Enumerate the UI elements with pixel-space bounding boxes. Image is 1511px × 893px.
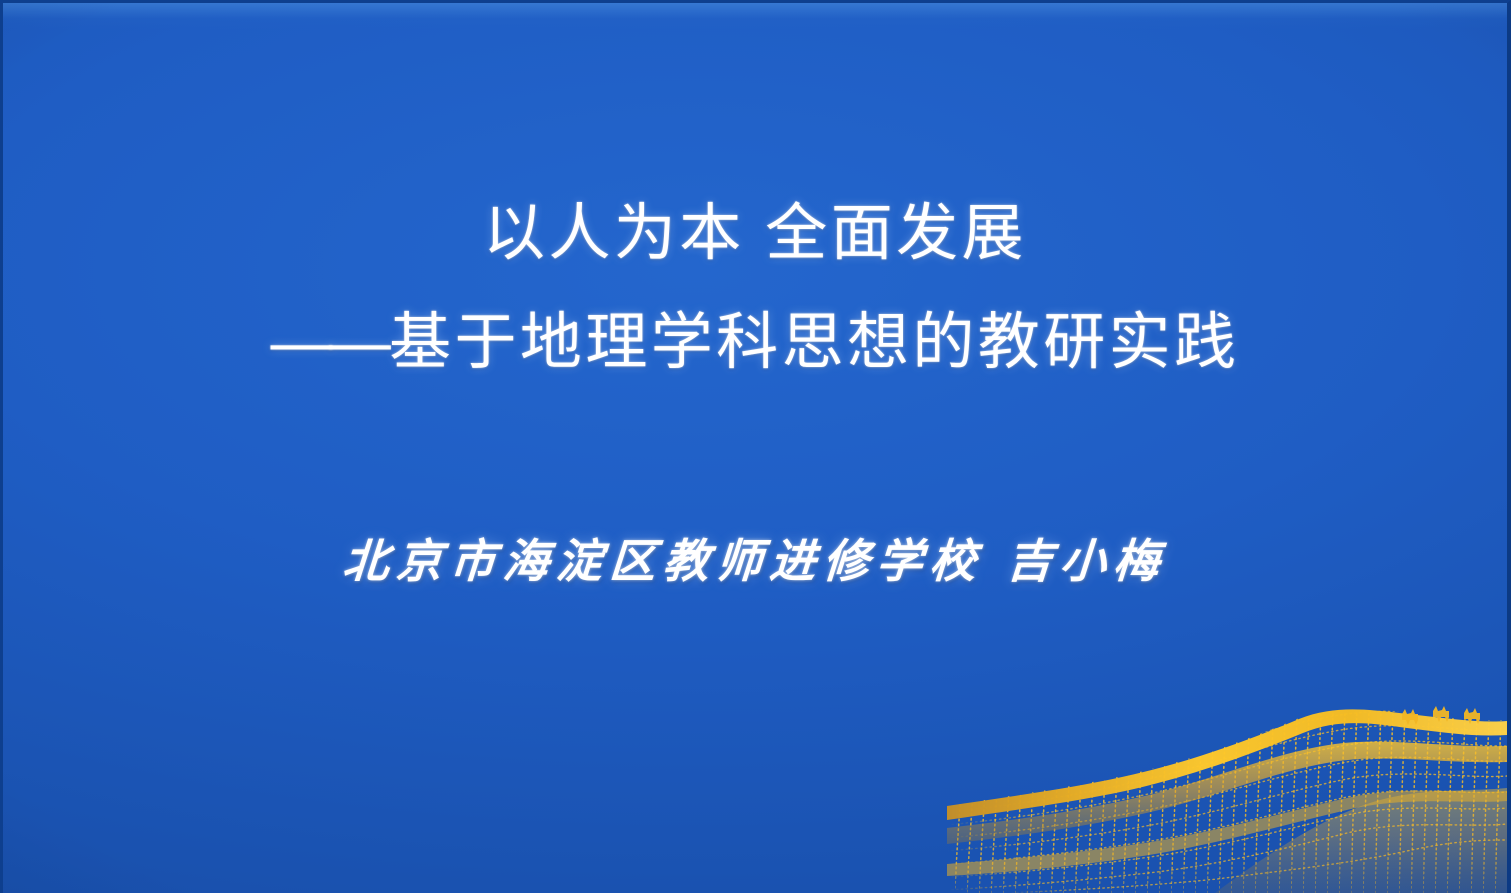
title-block: 以人为本 全面发展 ——基于地理学科思想的教研实践 北京市海淀区教师进修学校 吉… <box>3 201 1507 591</box>
dune-crest-highlights <box>947 709 1507 893</box>
dune-mesh-svg <box>947 688 1507 893</box>
subtitle-em-dash: —— <box>271 308 388 377</box>
presentation-slide: 以人为本 全面发展 ——基于地理学科思想的教研实践 北京市海淀区教师进修学校 吉… <box>0 0 1511 893</box>
presenter-affiliation-and-name: 北京市海淀区教师进修学校 吉小梅 <box>1 525 1510 591</box>
page-subtitle: ——基于地理学科思想的教研实践 <box>3 310 1507 377</box>
gold-wireframe-dune-mesh-icon <box>947 688 1507 893</box>
mesh-grid <box>947 711 1507 893</box>
camel-caravan-icon <box>1402 706 1480 725</box>
subtitle-text: 基于地理学科思想的教研实践 <box>389 308 1239 377</box>
slide-top-highlight-band <box>3 3 1507 29</box>
page-title: 以人为本 全面发展 <box>3 201 1507 268</box>
